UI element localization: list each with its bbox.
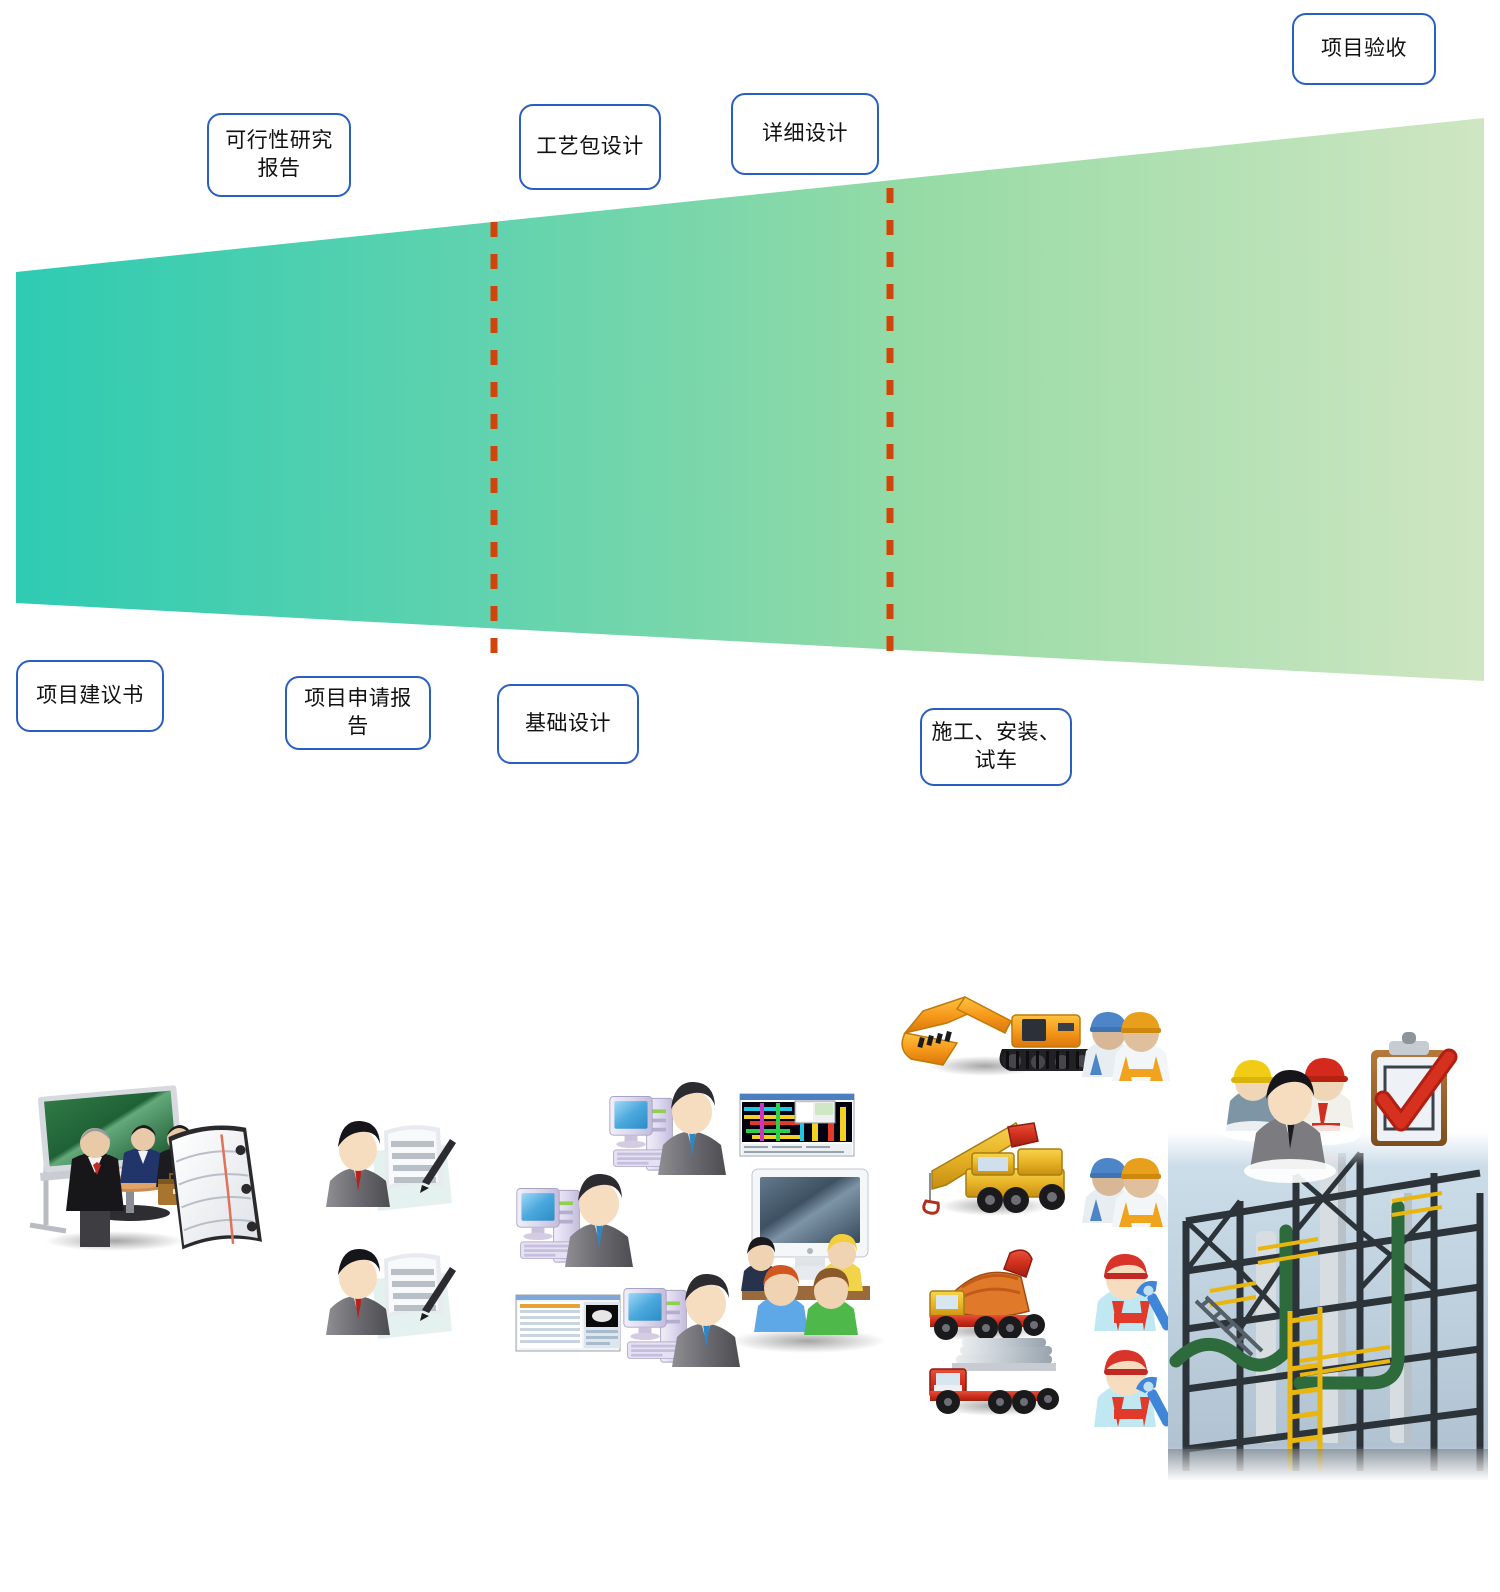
chemical-plant-photo <box>1168 1131 1488 1481</box>
callout-process-package-design-line-0: 工艺包设计 <box>536 133 644 161</box>
proposal-document-icon <box>168 1123 262 1250</box>
piping-3d-model-screen <box>740 1094 854 1156</box>
callout-project-application-line-0: 项目申请报 <box>304 685 412 713</box>
callout-detailed-design[interactable]: 详细设计 <box>731 93 879 175</box>
worker-pair-1 <box>1082 1012 1170 1081</box>
cement-mixer-icon <box>927 1250 1045 1341</box>
callout-process-package-design[interactable]: 工艺包设计 <box>519 104 661 190</box>
callout-detailed-design-line-0: 详细设计 <box>762 120 848 148</box>
callout-feasibility-study[interactable]: 可行性研究 报告 <box>207 113 351 197</box>
callout-construction-line-0: 施工、安装、 <box>932 719 1061 747</box>
pipe-load <box>956 1338 1052 1364</box>
worker-pair-2 <box>1082 1158 1170 1227</box>
callout-project-acceptance[interactable]: 项目验收 <box>1292 13 1436 85</box>
engineer-workstation-1 <box>610 1082 726 1175</box>
engineer-workstation-3 <box>624 1274 740 1367</box>
callout-basic-design-line-0: 基础设计 <box>525 710 611 738</box>
report-writer-2 <box>326 1249 456 1339</box>
callout-project-application[interactable]: 项目申请报 告 <box>285 676 431 750</box>
callout-feasibility-study-line-1: 报告 <box>258 155 301 183</box>
crane-truck-icon <box>924 1123 1065 1216</box>
project-schedule-screen <box>516 1295 620 1351</box>
process-band <box>16 118 1484 681</box>
engineer-workstation-2 <box>517 1174 633 1267</box>
clipboard-check-icon <box>1371 1032 1449 1146</box>
pipe-truck-icon <box>930 1338 1059 1416</box>
excavator-tracks <box>1000 1049 1095 1071</box>
callout-construction-install-commission[interactable]: 施工、安装、 试车 <box>920 708 1072 786</box>
design-review-scene <box>730 1169 886 1353</box>
callout-project-acceptance-line-0: 项目验收 <box>1321 35 1407 63</box>
report-writer-1 <box>326 1121 456 1211</box>
excavator-icon <box>902 997 1095 1076</box>
callout-feasibility-study-line-0: 可行性研究 <box>225 127 333 155</box>
callout-project-proposal[interactable]: 项目建议书 <box>16 660 164 732</box>
callout-construction-line-1: 试车 <box>975 747 1018 775</box>
mechanic-1 <box>1094 1254 1180 1335</box>
diagram-canvas: 项目建议书 可行性研究 报告 项目申请报 告 工艺包设计 详细设计 基础设计 施… <box>0 0 1500 796</box>
mechanic-2 <box>1094 1350 1180 1431</box>
callout-project-proposal-line-0: 项目建议书 <box>36 682 144 710</box>
scene-artwork-layer <box>0 801 1500 1592</box>
callout-project-application-line-1: 告 <box>347 713 369 741</box>
callout-basic-design[interactable]: 基础设计 <box>497 684 639 764</box>
